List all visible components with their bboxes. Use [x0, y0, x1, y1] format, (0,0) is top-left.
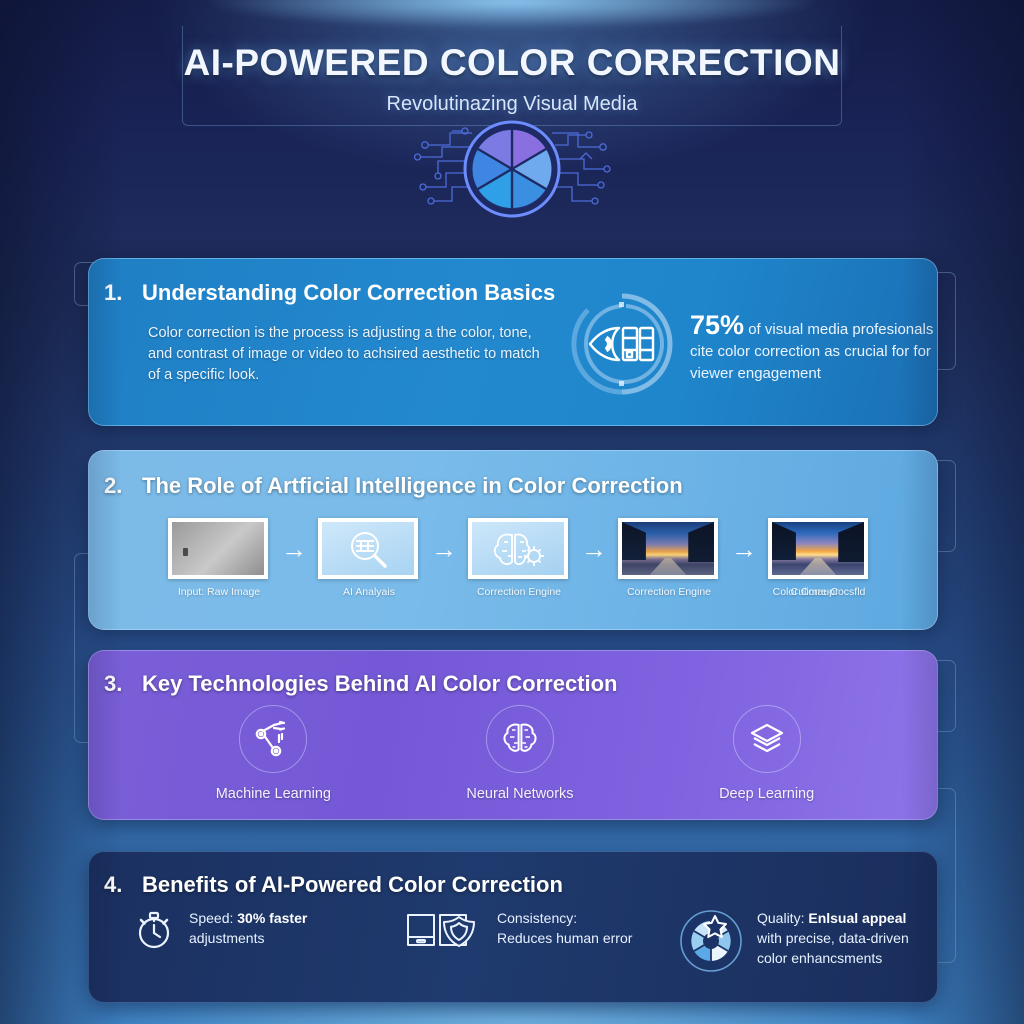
- pipeline-step-1-label: Input: Raw Image: [168, 586, 270, 598]
- star-color-wheel-icon: [678, 908, 744, 974]
- pipeline-step-5-label: Color Corre-Cocsfld Culimaupr: [773, 586, 866, 598]
- technology-row: Machine Learning Neural Networks: [150, 705, 890, 802]
- benefit-consistency-text: Consistency: Reduces human error: [497, 908, 632, 948]
- benefit-quality-value: Enlsual appeal: [808, 910, 906, 926]
- sunset-road-photo-corrected: [768, 518, 868, 579]
- section-1-title: Understanding Color Correction Basics: [142, 280, 555, 306]
- section-2-title: The Role of Artficial Intelligence in Co…: [142, 473, 683, 499]
- pipeline-arrow-3: →: [570, 518, 618, 579]
- brain-gear-icon: [468, 518, 568, 579]
- gray-photo-thumbnail: [168, 518, 268, 579]
- eye-sliders-icon: [566, 288, 678, 400]
- layers-icon: [733, 705, 801, 773]
- technology-label-3: Deep Learning: [667, 786, 867, 802]
- camera-aperture-circuit-icon: [412, 113, 612, 233]
- poster-header: AI-POWERED COLOR CORRECTION Revolutinazi…: [0, 18, 1024, 116]
- section-1-stat: 75% of visual media profesionals cite co…: [690, 314, 945, 385]
- pipeline-step-2-label: AI Analyais: [318, 586, 420, 598]
- section-1-body: Color correction is the process is adjus…: [148, 323, 548, 386]
- pipeline-step-2[interactable]: AI Analyais: [318, 518, 420, 598]
- benefit-quality-detail: with precise, data-driven color enhancsm…: [757, 930, 909, 966]
- magnifier-grid-icon: [318, 518, 418, 579]
- benefit-consistency-detail: Reduces human error: [497, 930, 632, 946]
- pipeline-step-3[interactable]: Correction Engine: [468, 518, 570, 598]
- pipeline-step-1[interactable]: Input: Raw Image: [168, 518, 270, 598]
- section-2-number: 2.: [104, 473, 122, 499]
- benefit-consistency-label: Consistency:: [497, 910, 577, 926]
- technology-label-2: Neural Networks: [420, 786, 620, 802]
- section-3-title: Key Technologies Behind AI Color Correct…: [142, 671, 618, 697]
- benefit-quality[interactable]: Quality: Enlsual appeal with precise, da…: [678, 908, 928, 974]
- pipeline-step-5-label-overlap: Culimaupr: [791, 586, 839, 598]
- pipeline-step-3-label: Correction Engine: [468, 586, 570, 598]
- technology-item-neural-networks[interactable]: Neural Networks: [420, 705, 620, 802]
- pipeline-step-5[interactable]: Color Corre-Cocsfld Culimaupr: [768, 518, 870, 600]
- stopwatch-icon: [132, 908, 176, 952]
- benefit-speed-value: 30% faster: [237, 910, 307, 926]
- ai-pipeline: Input: Raw Image → AI Analyais →: [168, 518, 928, 618]
- benefit-quality-label: Quality:: [757, 910, 804, 926]
- benefit-speed-label: Speed:: [189, 910, 233, 926]
- infographic-poster: AI-POWERED COLOR CORRECTION Revolutinazi…: [0, 0, 1024, 1024]
- stat-value: 75%: [690, 310, 744, 340]
- pipeline-arrow-2: →: [420, 518, 468, 579]
- section-4-number: 4.: [104, 872, 122, 898]
- benefit-quality-text: Quality: Enlsual appeal with precise, da…: [757, 908, 928, 968]
- section-3-number: 3.: [104, 671, 122, 697]
- brain-icon: [486, 705, 554, 773]
- sunset-road-photo: [618, 518, 718, 579]
- pipeline-arrow-1: →: [270, 518, 318, 579]
- benefit-speed-text: Speed: 30% faster adjustments: [189, 908, 307, 948]
- benefit-speed[interactable]: Speed: 30% faster adjustments: [132, 908, 382, 974]
- technology-item-machine-learning[interactable]: Machine Learning: [173, 705, 373, 802]
- benefit-consistency[interactable]: Consistency: Reduces human error: [404, 908, 674, 974]
- section-4-title: Benefits of AI-Powered Color Correction: [142, 872, 563, 898]
- pipeline-step-4-label: Correction Engine: [618, 586, 720, 598]
- document-shield-icon: [404, 908, 484, 952]
- technology-item-deep-learning[interactable]: Deep Learning: [667, 705, 867, 802]
- page-title: AI-POWERED COLOR CORRECTION: [0, 18, 1024, 84]
- section-1-number: 1.: [104, 280, 122, 306]
- pipeline-step-4[interactable]: Correction Engine: [618, 518, 720, 598]
- robot-arm-icon: [239, 705, 307, 773]
- technology-label-1: Machine Learning: [173, 786, 373, 802]
- benefits-row: Speed: 30% faster adjustments: [132, 908, 932, 974]
- benefit-speed-detail: adjustments: [189, 930, 264, 946]
- pipeline-arrow-4: →: [720, 518, 768, 579]
